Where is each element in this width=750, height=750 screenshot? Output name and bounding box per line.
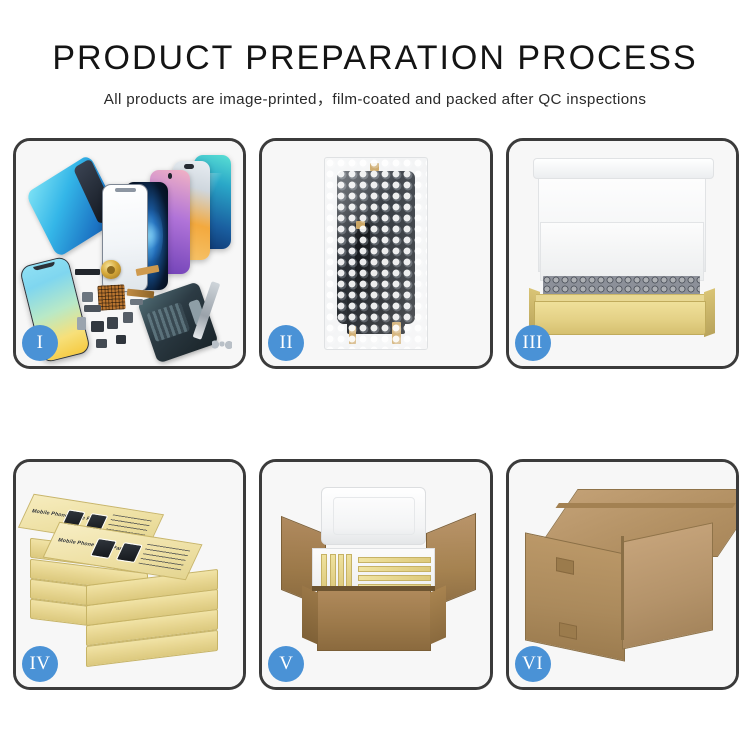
process-panel-grid: I II III [13,138,739,690]
page-header: PRODUCT PREPARATION PROCESS All products… [0,0,750,109]
small-part-4-icon [91,321,104,332]
flex-cable-b-icon [127,288,155,298]
plastic-sheen-icon [325,158,428,350]
process-step-panel-2[interactable]: II [259,138,492,369]
packed-box-h2-icon [358,566,431,572]
small-part-6-icon [123,312,133,323]
step-badge-6: VI [515,646,551,682]
box-artwork-thumb-3-icon [90,538,117,559]
box-front-panel-icon [534,301,707,335]
box-spec-text-lines-2-icon [138,544,190,571]
page-title: PRODUCT PREPARATION PROCESS [0,41,750,75]
small-part-9-icon [96,339,107,348]
carton-top-seam-icon [556,503,736,508]
small-part-2-icon [84,305,101,312]
process-step-panel-1[interactable]: I [13,138,246,369]
small-part-1-icon [82,292,93,302]
packed-box-h3-icon [358,575,431,581]
carton-rim-icon [312,586,435,591]
small-part-7-icon [130,299,144,306]
process-step-panel-5[interactable]: V [259,459,492,690]
carton-side-face-icon [622,522,713,649]
process-step-panel-4[interactable]: Mobile Phone Spare Parts Mobile Phone Sp… [13,459,246,690]
step-badge-1: I [22,325,58,361]
foam-lid-icon [321,487,426,546]
process-step-panel-6[interactable]: VI [506,459,739,690]
process-step-panel-3[interactable]: III [506,138,739,369]
step-badge-3: III [515,325,551,361]
bubble-wrap-package-icon [324,157,429,351]
camera-lens-icon [101,260,120,279]
carton-vertical-edge-icon [621,536,624,640]
screws-icon [212,339,232,350]
carton-body-icon [317,588,431,651]
small-part-3-icon [77,317,86,331]
foam-sheet-icon [540,222,704,281]
packed-box-h1-icon [358,557,431,563]
small-part-5-icon [107,317,118,329]
battery-strip-icon [75,269,100,275]
carton-front-face-icon [525,532,625,661]
page-subtitle: All products are image-printed，film-coat… [0,87,750,109]
small-part-8-icon [116,335,126,344]
chip-grid-icon [97,284,126,310]
step-badge-4: IV [22,646,58,682]
